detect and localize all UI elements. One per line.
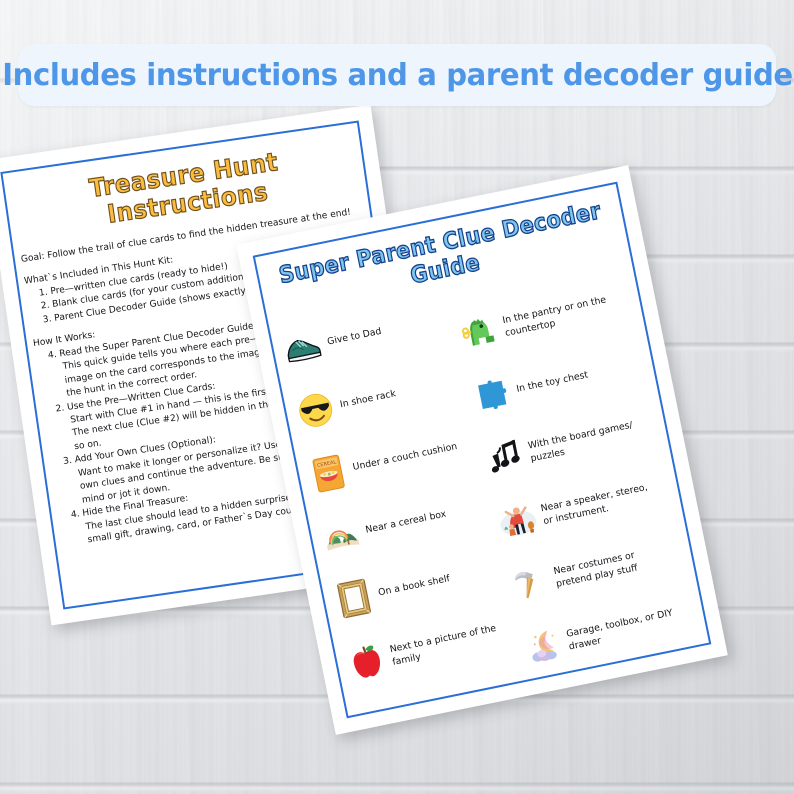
decoder-row-caption: In the toy chest (515, 369, 589, 397)
puzzle-piece-icon (470, 372, 515, 417)
sneakers-icon (281, 325, 326, 370)
open-book-scene-icon (319, 513, 364, 558)
decoder-row-caption: Under a couch cushion (352, 440, 459, 474)
scene-background: Includes instructions and a parent decod… (0, 0, 794, 794)
decoder-row-caption: Near a cereal box (364, 508, 447, 538)
promo-banner-text: Includes instructions and a parent decod… (2, 58, 793, 93)
sunglasses-face-icon (293, 388, 338, 433)
decoder-row-caption: In shoe rack (339, 387, 397, 412)
music-notes-icon (483, 435, 528, 480)
wind-up-dinosaur-icon (457, 310, 502, 355)
decoder-row-caption: Near costumes or pretend play stuff (552, 542, 667, 591)
decoder-row-caption: Near a speaker, stereo, or instrument. (540, 480, 655, 529)
decoder-row-caption: On a book shelf (377, 572, 451, 600)
superhero-family-icon (495, 498, 540, 543)
picture-frame-icon (332, 576, 377, 621)
decoder-row-caption: In the pantry or on the countertop (501, 292, 616, 341)
decoder-row-caption: Next to a picture of the family (389, 621, 504, 670)
decoder-row-caption: With the board games/ puzzles (527, 417, 642, 466)
decoder-row-caption: Give to Dad (326, 325, 383, 349)
cereal-box-icon: CEREAL (306, 451, 351, 496)
moon-clouds-icon (521, 623, 566, 668)
promo-banner: Includes instructions and a parent decod… (18, 44, 776, 106)
hammer-icon (508, 561, 553, 606)
decoder-guide-sheet: Super Parent Clue Decoder Guide Give to … (236, 165, 728, 735)
apple-icon (344, 639, 389, 684)
